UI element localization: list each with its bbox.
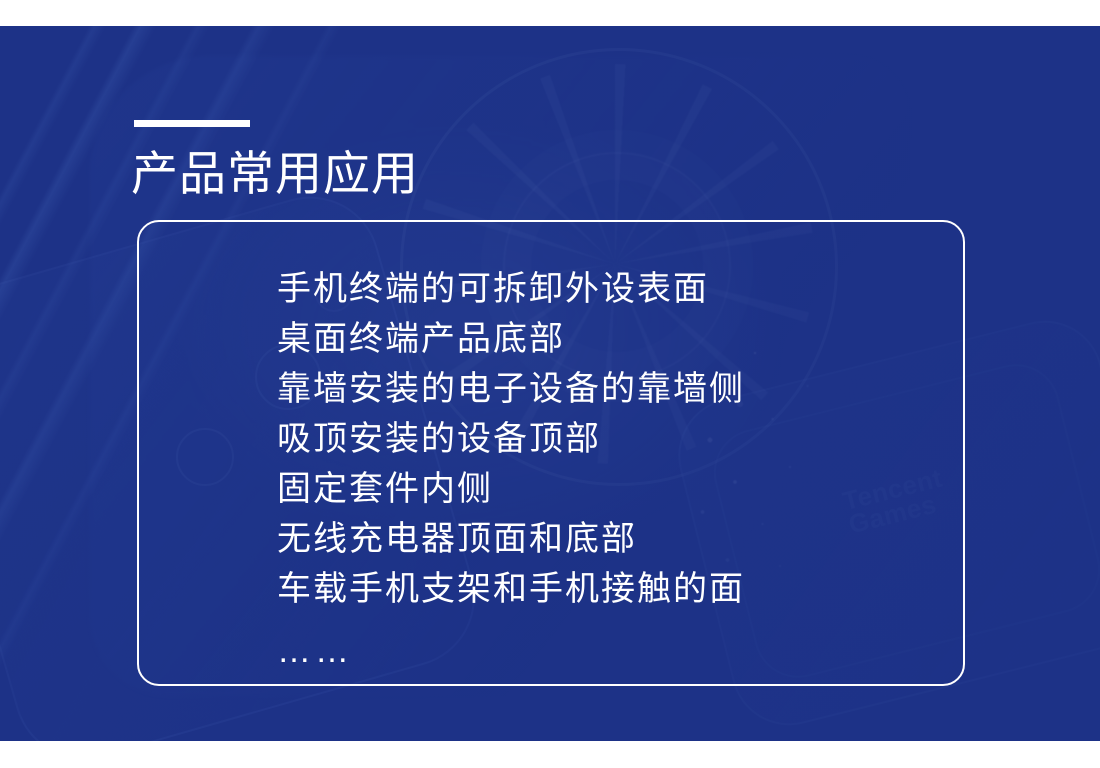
list-item: 靠墙安装的电子设备的靠墙侧	[277, 364, 745, 414]
list-item: 吸顶安装的设备顶部	[277, 414, 745, 464]
list-item: 手机终端的可拆卸外设表面	[277, 264, 745, 314]
blue-panel: TencentGames 产品常用应用 手机终端的可拆卸外设表面 桌面终端产品底…	[0, 26, 1100, 741]
list-item: 车载手机支架和手机接触的面	[277, 564, 745, 614]
list-item: 固定套件内侧	[277, 464, 745, 514]
list-item-ellipsis: ……	[277, 614, 745, 676]
poster-root: TencentGames 产品常用应用 手机终端的可拆卸外设表面 桌面终端产品底…	[0, 0, 1100, 768]
content-layer: 产品常用应用 手机终端的可拆卸外设表面 桌面终端产品底部 靠墙安装的电子设备的靠…	[0, 26, 1100, 741]
title-accent-rule	[134, 120, 250, 127]
list-item: 无线充电器顶面和底部	[277, 514, 745, 564]
list-item: 桌面终端产品底部	[277, 314, 745, 364]
page-title: 产品常用应用	[131, 147, 419, 201]
applications-list: 手机终端的可拆卸外设表面 桌面终端产品底部 靠墙安装的电子设备的靠墙侧 吸顶安装…	[277, 264, 745, 676]
